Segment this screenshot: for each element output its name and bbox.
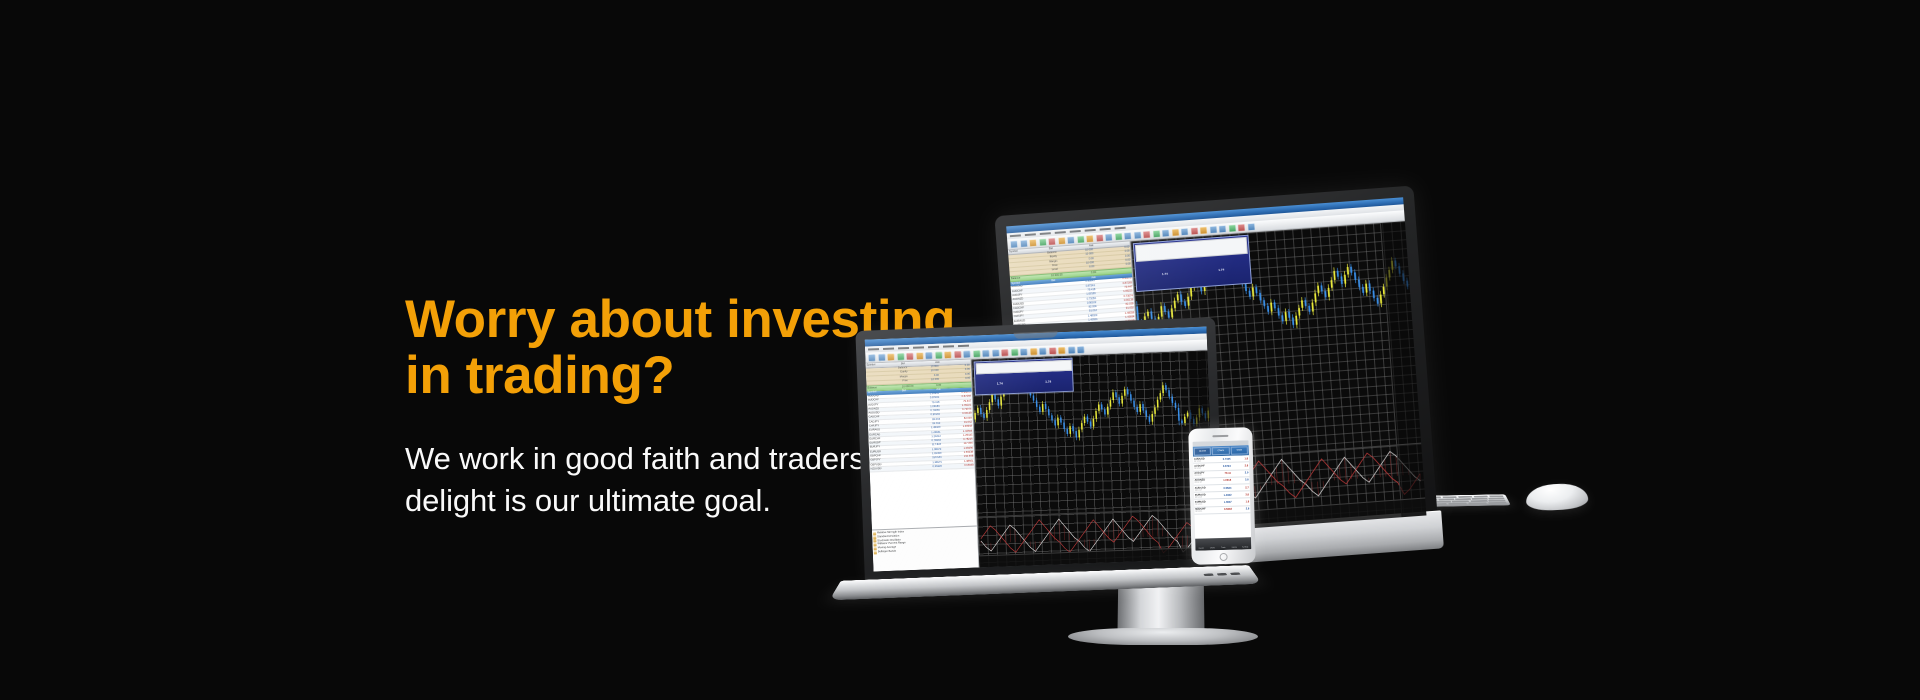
mobile-quote-time: 09:14:13 [1195, 503, 1214, 506]
tab-quotes[interactable]: Quotes [1194, 448, 1212, 456]
navigator-item-label: Bollinger Bands [878, 551, 896, 554]
mobile-quotes-list[interactable]: AUDUSD09:14:220.73051.8AUDCHF09:14:210.8… [1193, 456, 1251, 539]
iphone-screen: Quotes Charts Trade AUDUSD09:14:220.7305… [1193, 440, 1252, 550]
ocp-buy-price[interactable]: 1.74 [1024, 372, 1072, 393]
indicator-icon [873, 536, 876, 539]
mobile-quote-time: 09:14:11 [1195, 510, 1214, 513]
mobile-tabbar[interactable]: QuotesChartsTradeHistorySettings [1195, 537, 1251, 550]
ocp-sell-price[interactable]: 1.74 [976, 374, 1024, 395]
mobile-quote-time: 09:14:15 [1195, 496, 1214, 499]
indicator-icon [874, 551, 877, 554]
mobile-quote-price: 0.6692 [1214, 508, 1231, 511]
mobile-quote-spread: 3.8 [1232, 493, 1249, 496]
balance-label: Balance [868, 386, 902, 390]
navigator-panel[interactable]: Relative Strength IndexStandard Deviatio… [872, 526, 979, 572]
quotes-table-body[interactable]: AUDCAD0.968450.96872AUDCHF0.872410.87269… [867, 391, 977, 530]
device-cluster: Symbol Bid Ask Balance10 0000.00 Equity1… [860, 200, 1700, 670]
mobile-quote-spread: 2.8 [1232, 507, 1249, 510]
mobile-quote-time: 09:14:21 [1194, 467, 1213, 470]
earpiece-speaker [1212, 435, 1228, 437]
tab-charts[interactable]: Charts [1212, 447, 1230, 455]
tab-trade[interactable]: Trade [1230, 447, 1248, 455]
price-chart[interactable]: 1.74 1.74 [972, 351, 1214, 516]
apple-magic-mouse [1525, 482, 1588, 511]
mobile-quote-time: 09:14:17 [1195, 489, 1214, 492]
mobile-quote-price: 1.4832 [1214, 494, 1231, 497]
iphone-device: Quotes Charts Trade AUDUSD09:14:220.7305… [1188, 427, 1256, 565]
mobile-quote-spread: 1.8 [1232, 500, 1249, 503]
one-click-trading-panel[interactable]: 1.74 1.74 [1133, 235, 1252, 292]
mobile-quote-price: 1.0918 [1214, 479, 1231, 482]
mobile-quote-spread: 3.8 [1231, 479, 1248, 482]
mobile-quote-time: 09:14:18 [1195, 482, 1214, 485]
mobile-quote-spread: 2.8 [1231, 464, 1248, 467]
mobile-quote-row[interactable]: NZDCHF09:14:110.66922.8 [1194, 506, 1250, 515]
macbook-laptop: Symbol Bid Ask Balance10 0000.00 Equity1… [855, 317, 1224, 581]
imac-stand-foot [1068, 628, 1258, 645]
quote-symbol: NZDUSD [871, 467, 911, 471]
mobile-quote-price: 79.41 [1214, 472, 1231, 475]
balance-value: 10 000.00 [902, 385, 936, 389]
mobile-tab-quotes[interactable]: Quotes [1196, 539, 1206, 549]
mobile-tab-history[interactable]: History [1229, 539, 1239, 549]
balance-change: 0.00 [936, 383, 970, 387]
mobile-quote-price: 1.0837 [1214, 501, 1231, 504]
mobile-quote-price: 0.9684 [1214, 486, 1231, 489]
mobile-quote-spread: 1.8 [1231, 457, 1248, 460]
mobile-quote-price: 0.8724 [1213, 465, 1230, 468]
mobile-quote-spread: 2.7 [1231, 486, 1248, 489]
chart-area[interactable]: 1.74 1.74 [972, 351, 1216, 568]
mobile-quote-time: 09:14:20 [1194, 474, 1213, 477]
mobile-quote-price: 0.7305 [1213, 458, 1230, 461]
macbook-lid: Symbol Bid Ask Balance10 0000.00 Equity1… [855, 317, 1224, 581]
quote-bid: 0.66920 [910, 466, 942, 470]
ocp-buy-price[interactable]: 1.74 [1193, 254, 1250, 286]
mt4-window-laptop: Symbol Bid Ask Balance10 0000.00 Equity1… [865, 327, 1216, 572]
indicator-icon [873, 540, 876, 543]
mobile-tab-charts[interactable]: Charts [1207, 539, 1217, 549]
market-watch-panel[interactable]: Symbol Bid Ask Balance10 0000.00 Equity1… [866, 360, 980, 572]
macbook-ports [1203, 572, 1240, 576]
indicator-icon [874, 543, 877, 546]
mobile-quote-spread: 2.9 [1231, 472, 1248, 475]
macbook-screen: Symbol Bid Ask Balance10 0000.00 Equity1… [865, 327, 1216, 572]
home-button[interactable] [1219, 553, 1227, 561]
mobile-quote-time: 09:14:22 [1194, 460, 1213, 463]
hero-banner: Worry about investing in trading? We wor… [0, 0, 1920, 700]
quote-ask: 0.66948 [942, 464, 974, 468]
indicator-icon [874, 547, 877, 550]
mt4-mobile-app: Quotes Charts Trade AUDUSD09:14:220.7305… [1193, 440, 1252, 550]
one-click-trading-panel[interactable]: 1.74 1.74 [974, 358, 1074, 396]
mt4-body: Symbol Bid Ask Balance10 0000.00 Equity1… [866, 351, 1216, 572]
indicator-icon [873, 532, 876, 535]
mobile-tab-settings[interactable]: Settings [1240, 538, 1250, 548]
ocp-sell-price[interactable]: 1.74 [1136, 258, 1193, 290]
mobile-tab-trade[interactable]: Trade [1218, 539, 1228, 549]
